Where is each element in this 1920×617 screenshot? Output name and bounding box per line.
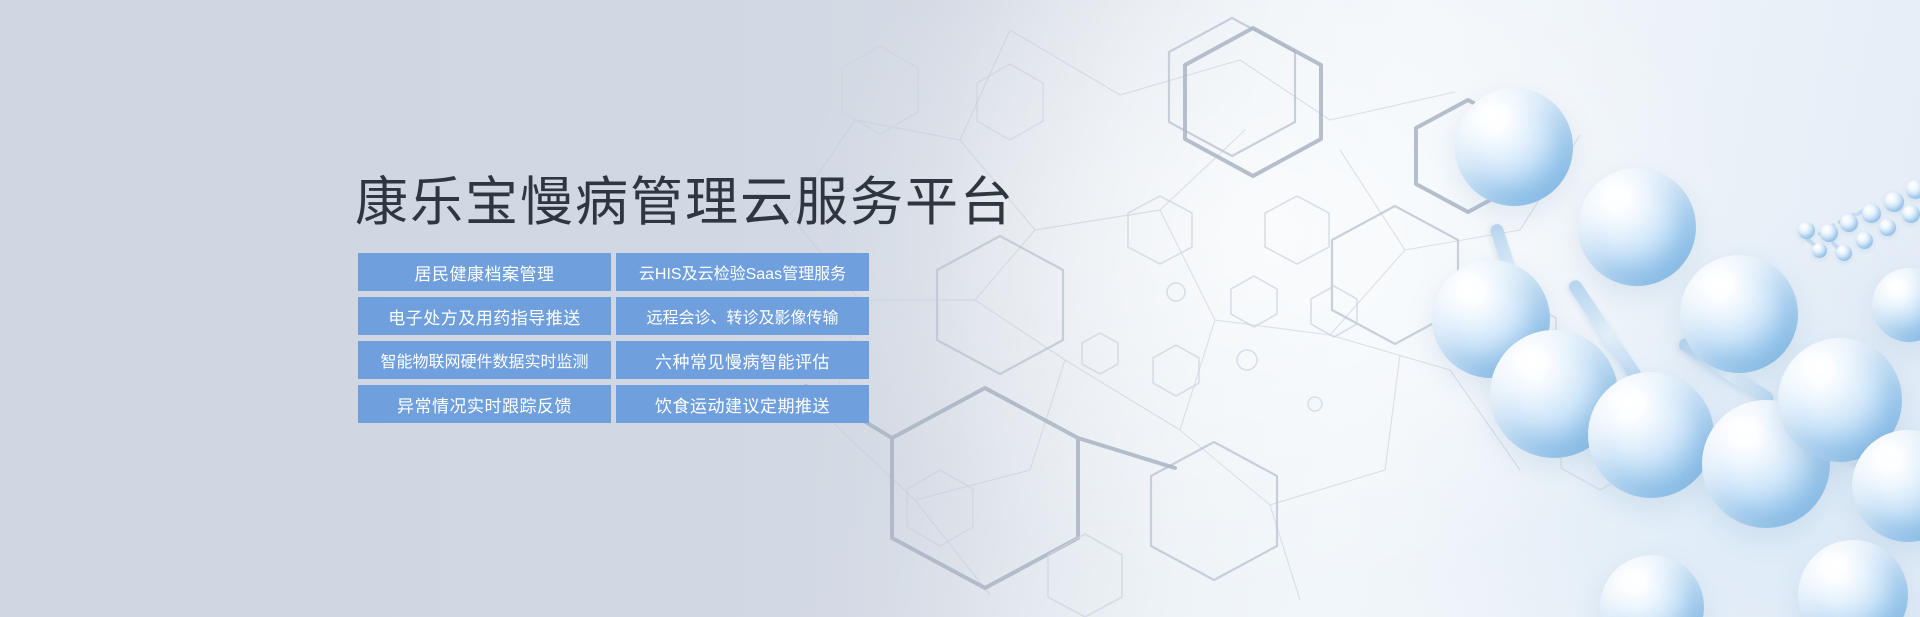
page-title: 康乐宝慢病管理云服务平台 (355, 175, 1015, 231)
banner-content: 康乐宝慢病管理云服务平台 居民健康档案管理 云HIS及云检验Saas管理服务 电… (0, 0, 1920, 617)
feature-tag[interactable]: 远程会诊、转诊及影像传输 (616, 297, 869, 335)
feature-tag-grid: 居民健康档案管理 云HIS及云检验Saas管理服务 电子处方及用药指导推送 远程… (358, 253, 869, 423)
feature-tag[interactable]: 电子处方及用药指导推送 (358, 297, 611, 335)
feature-tag[interactable]: 饮食运动建议定期推送 (616, 385, 869, 423)
feature-tag[interactable]: 六种常见慢病智能评估 (616, 341, 869, 379)
feature-tag[interactable]: 异常情况实时跟踪反馈 (358, 385, 611, 423)
feature-tag[interactable]: 居民健康档案管理 (358, 253, 611, 291)
hero-banner: 康乐宝慢病管理云服务平台 居民健康档案管理 云HIS及云检验Saas管理服务 电… (0, 0, 1920, 617)
feature-tag[interactable]: 云HIS及云检验Saas管理服务 (616, 253, 869, 291)
feature-tag[interactable]: 智能物联网硬件数据实时监测 (358, 341, 611, 379)
